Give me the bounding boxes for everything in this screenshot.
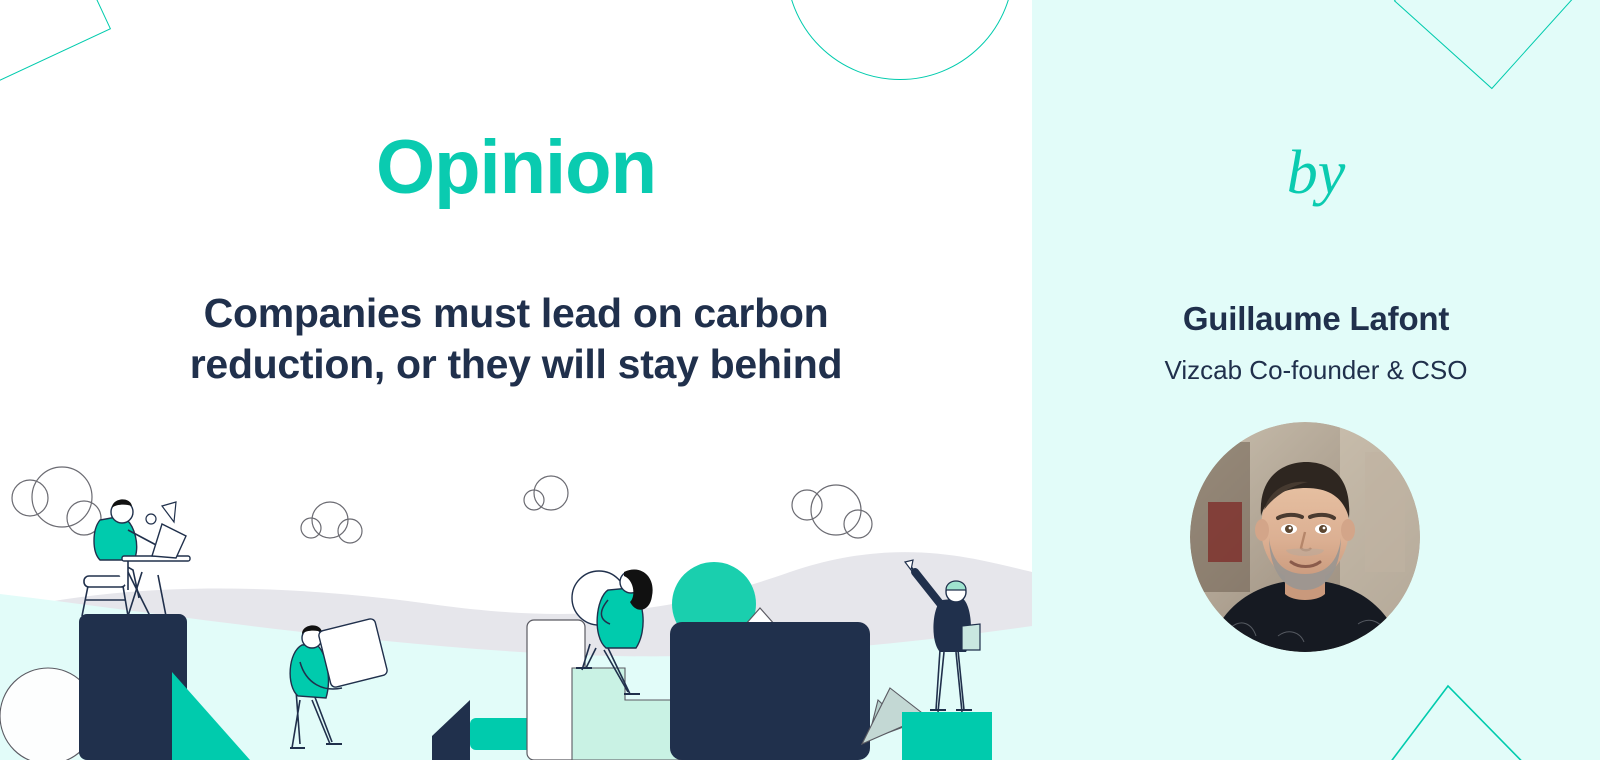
rotated-square-top-right-icon	[1394, 0, 1580, 89]
opinion-banner: Opinion Companies must lead on carbon re…	[0, 0, 1600, 760]
headline-line-1: Companies must lead on carbon	[60, 288, 972, 339]
left-panel: Opinion Companies must lead on carbon re…	[0, 0, 1032, 760]
headline-line-2: reduction, or they will stay behind	[60, 339, 972, 390]
teal-platform-block	[902, 712, 992, 760]
author-role: Vizcab Co-founder & CSO	[1032, 355, 1600, 386]
page-title: Companies must lead on carbon reduction,…	[60, 288, 972, 391]
navy-pedestal-block	[79, 614, 187, 760]
teal-small-block	[470, 718, 532, 750]
tablet	[962, 624, 980, 650]
large-navy-rounded-block	[670, 622, 870, 760]
author-name: Guillaume Lafont	[1032, 300, 1600, 338]
page-kicker: Opinion	[0, 130, 1032, 206]
by-label: by	[1032, 142, 1600, 204]
triangle-outline-bottom-right-icon	[1362, 672, 1600, 760]
avatar	[1190, 422, 1420, 652]
cloud-outline-cluster	[12, 467, 872, 543]
